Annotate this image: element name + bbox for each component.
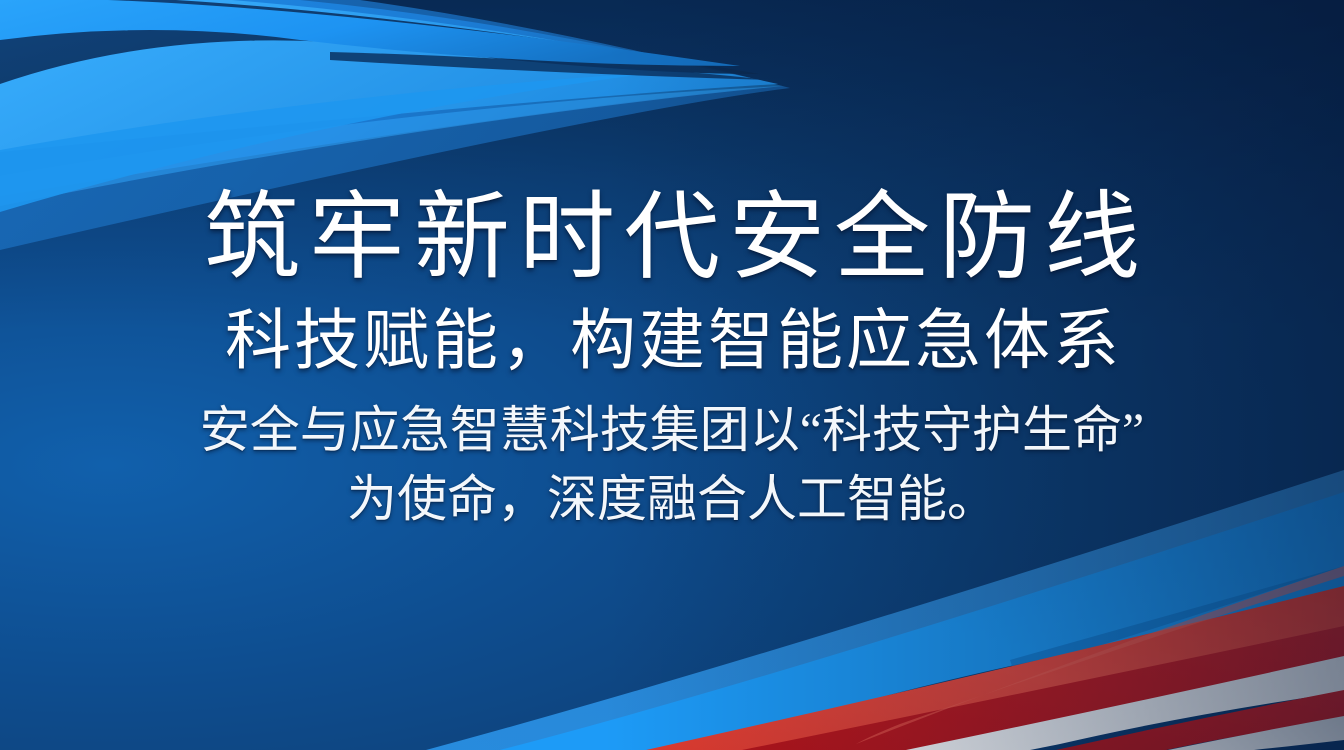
body-line-2: 为使命，深度融合人工智能。 (26, 465, 1318, 534)
page-subtitle: 科技赋能，构建智能应急体系 (26, 306, 1318, 379)
page-body-copy: 安全与应急智慧科技集团以“科技守护生命” 为使命，深度融合人工智能。 (26, 396, 1318, 534)
poster-canvas: 筑牢新时代安全防线 科技赋能，构建智能应急体系 安全与应急智慧科技集团以“科技守… (0, 0, 1344, 750)
poster-text-block: 筑牢新时代安全防线 科技赋能，构建智能应急体系 安全与应急智慧科技集团以“科技守… (0, 186, 1344, 534)
page-title: 筑牢新时代安全防线 (26, 186, 1318, 290)
body-line-1: 安全与应急智慧科技集团以“科技守护生命” (26, 396, 1318, 465)
